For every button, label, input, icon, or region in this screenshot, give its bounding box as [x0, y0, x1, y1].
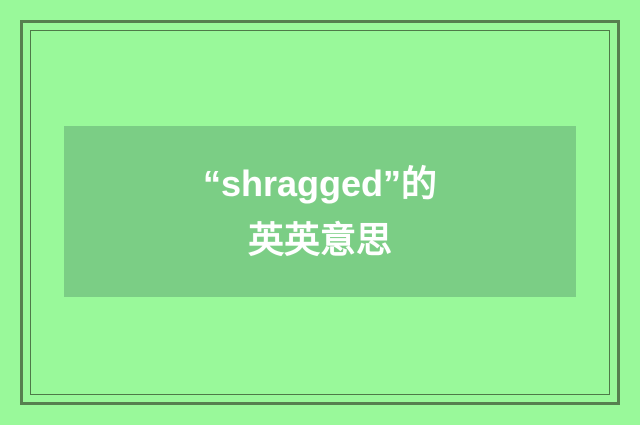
title-card: “shragged”的英英意思 [64, 126, 576, 297]
page-root: “shragged”的英英意思 [0, 0, 640, 425]
page-title: “shragged”的英英意思 [196, 156, 444, 268]
